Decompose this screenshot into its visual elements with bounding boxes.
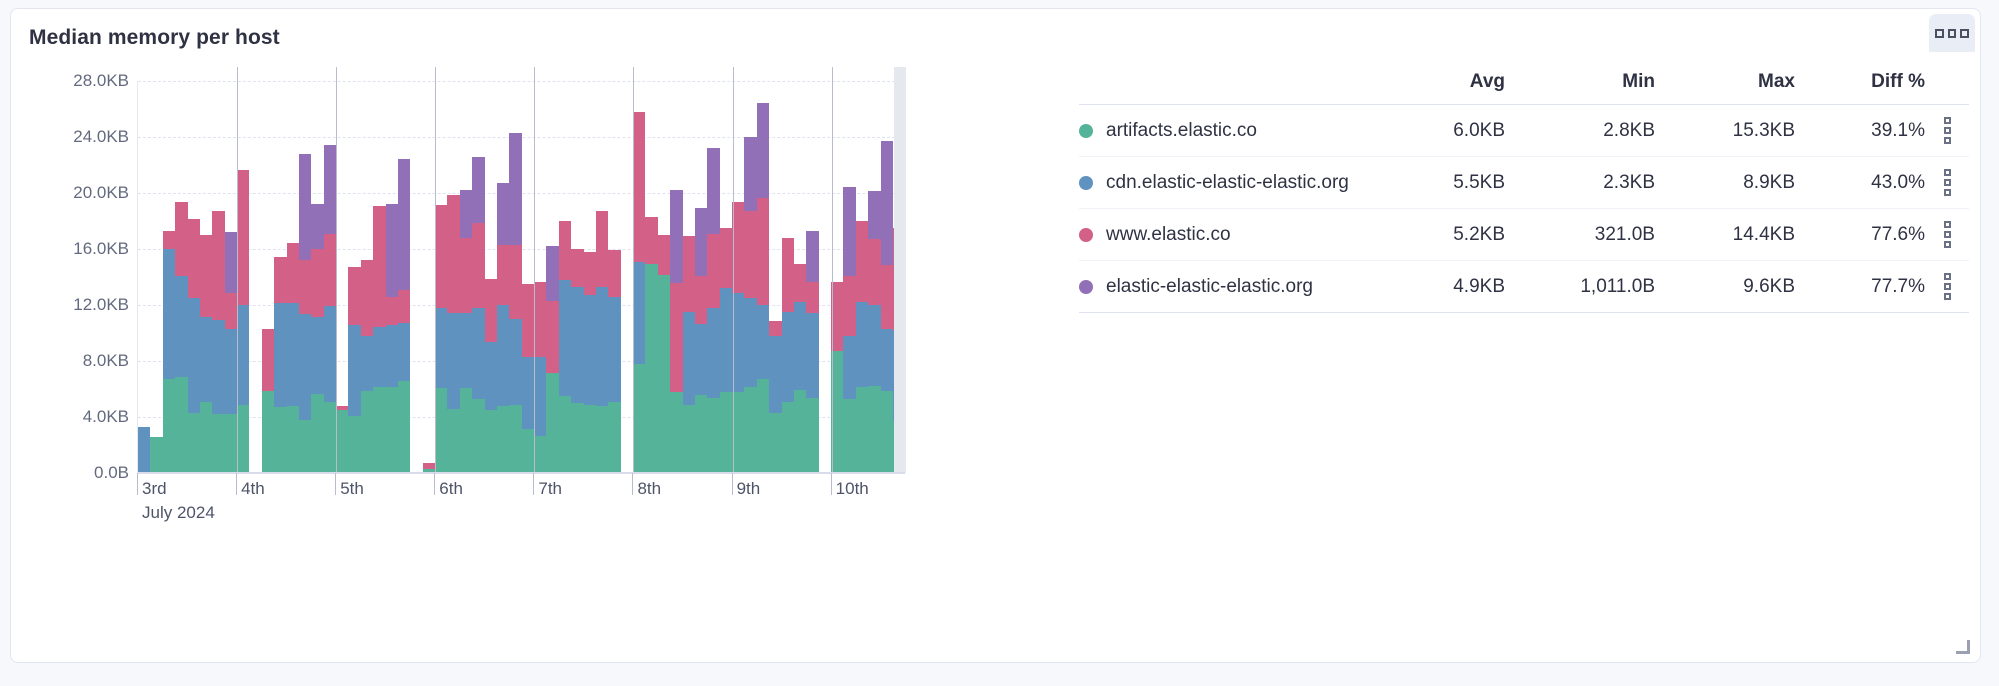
bar-segment bbox=[212, 414, 224, 473]
bar-segment bbox=[336, 410, 348, 473]
legend-row-grip-icon[interactable] bbox=[1925, 157, 1969, 209]
bar-segment bbox=[608, 402, 620, 473]
bar-segment bbox=[472, 399, 484, 473]
legend-diff-value: 39.1% bbox=[1795, 105, 1925, 157]
bar-segment bbox=[225, 329, 237, 414]
bar-segment bbox=[720, 288, 732, 392]
bar-segment bbox=[769, 336, 781, 413]
bar-segment bbox=[782, 312, 794, 402]
bar-segment bbox=[274, 257, 286, 303]
legend-row-grip-icon[interactable] bbox=[1925, 209, 1969, 261]
bar-column[interactable] bbox=[658, 81, 670, 473]
bar-column[interactable] bbox=[596, 81, 608, 473]
bar-segment bbox=[769, 413, 781, 473]
bar-segment bbox=[163, 379, 175, 473]
bar-column[interactable] bbox=[249, 81, 261, 473]
bar-segment bbox=[584, 405, 596, 473]
bar-column[interactable] bbox=[534, 81, 546, 473]
bar-segment bbox=[744, 387, 756, 473]
bar-segment bbox=[212, 320, 224, 414]
bar-segment bbox=[881, 265, 893, 329]
bar-segment bbox=[720, 228, 732, 288]
legend-avg-value: 5.2KB bbox=[1385, 209, 1505, 261]
bar-column[interactable] bbox=[212, 81, 224, 473]
bar-column[interactable] bbox=[868, 81, 880, 473]
y-axis-tick-label: 8.0KB bbox=[83, 351, 129, 371]
bar-column[interactable] bbox=[311, 81, 323, 473]
bar-column[interactable] bbox=[881, 81, 893, 473]
bar-segment bbox=[633, 112, 645, 262]
bar-segment bbox=[881, 329, 893, 391]
bar-segment bbox=[373, 206, 385, 326]
bar-segment bbox=[707, 398, 719, 473]
bar-segment bbox=[200, 235, 212, 317]
bar-segment bbox=[485, 279, 497, 342]
bar-segment bbox=[237, 305, 249, 405]
bar-segment bbox=[707, 234, 719, 308]
bar-column[interactable] bbox=[522, 81, 534, 473]
day-separator bbox=[237, 67, 238, 473]
table-row[interactable]: www.elastic.co5.2KB321.0B14.4KB77.6% bbox=[1079, 209, 1969, 261]
legend-header-grip bbox=[1925, 71, 1969, 105]
bar-segment bbox=[732, 202, 744, 292]
legend-header-max[interactable]: Max bbox=[1655, 71, 1795, 105]
bar-segment bbox=[522, 357, 534, 429]
bar-segment bbox=[596, 211, 608, 288]
y-axis-tick-label: 28.0KB bbox=[73, 71, 129, 91]
legend-min-value: 1,011.0B bbox=[1505, 261, 1655, 313]
x-axis-tick-label: 8th bbox=[632, 479, 661, 499]
legend-row-grip-icon[interactable] bbox=[1925, 105, 1969, 157]
bar-segment bbox=[472, 223, 484, 308]
bar-column[interactable] bbox=[744, 81, 756, 473]
bar-segment bbox=[720, 392, 732, 473]
bar-segment bbox=[695, 395, 707, 473]
x-axis-period-label: July 2024 bbox=[137, 503, 215, 523]
bar-segment bbox=[806, 231, 818, 282]
x-axis-tick-label: 10th bbox=[831, 479, 869, 499]
bar-segment bbox=[683, 236, 695, 311]
bar-column[interactable] bbox=[460, 81, 472, 473]
bar-segment bbox=[212, 211, 224, 320]
bar-segment bbox=[188, 413, 200, 473]
bar-segment bbox=[175, 202, 187, 276]
bar-segment bbox=[658, 235, 670, 275]
bar-column[interactable] bbox=[806, 81, 818, 473]
legend-min-value: 2.3KB bbox=[1505, 157, 1655, 209]
bar-column[interactable] bbox=[299, 81, 311, 473]
bar-segment bbox=[386, 387, 398, 473]
y-axis-tick-label: 0.0B bbox=[94, 463, 129, 483]
bar-segment bbox=[311, 249, 323, 317]
bar-column[interactable] bbox=[410, 81, 422, 473]
bar-segment bbox=[324, 306, 336, 402]
legend-row-grip-icon[interactable] bbox=[1925, 261, 1969, 313]
bar-segment bbox=[794, 302, 806, 390]
bar-column[interactable] bbox=[621, 81, 633, 473]
bar-segment bbox=[262, 329, 274, 391]
bar-segment bbox=[447, 409, 459, 473]
bar-segment bbox=[769, 321, 781, 336]
bar-segment bbox=[497, 183, 509, 245]
bar-segment bbox=[856, 387, 868, 473]
bar-column[interactable] bbox=[707, 81, 719, 473]
bar-segment bbox=[670, 190, 682, 283]
bar-segment bbox=[596, 287, 608, 406]
bar-column[interactable] bbox=[138, 81, 150, 473]
bar-segment bbox=[311, 317, 323, 394]
bar-segment bbox=[460, 190, 472, 238]
bar-segment bbox=[695, 276, 707, 324]
bar-segment bbox=[571, 403, 583, 473]
bar-segment bbox=[695, 208, 707, 276]
bar-segment bbox=[732, 293, 744, 393]
bar-segment bbox=[608, 250, 620, 296]
bar-segment bbox=[831, 351, 843, 473]
x-axis-tick-label: 3rd bbox=[137, 479, 167, 499]
bar-segment bbox=[670, 283, 682, 392]
bar-segment bbox=[806, 398, 818, 473]
bar-segment bbox=[843, 276, 855, 336]
bar-segment bbox=[299, 260, 311, 315]
bar-segment bbox=[274, 303, 286, 407]
menu-square-1-icon bbox=[1935, 29, 1944, 38]
bar-segment bbox=[509, 133, 521, 245]
bar-segment bbox=[175, 377, 187, 473]
bar-segment bbox=[485, 342, 497, 410]
bar-segment bbox=[175, 276, 187, 377]
bar-column[interactable] bbox=[497, 81, 509, 473]
series-label: www.elastic.co bbox=[1106, 224, 1231, 246]
bar-segment bbox=[188, 219, 200, 298]
bar-segment bbox=[794, 390, 806, 473]
legend-avg-value: 6.0KB bbox=[1385, 105, 1505, 157]
x-axis-tick-label: 6th bbox=[434, 479, 463, 499]
bar-column[interactable] bbox=[546, 81, 558, 473]
bar-segment bbox=[299, 314, 311, 419]
bar-segment bbox=[373, 327, 385, 387]
bar-segment bbox=[831, 282, 843, 352]
bar-column[interactable] bbox=[287, 81, 299, 473]
legend-max-value: 8.9KB bbox=[1655, 157, 1795, 209]
bar-segment bbox=[348, 267, 360, 326]
bar-column[interactable] bbox=[831, 81, 843, 473]
y-axis-tick-label: 16.0KB bbox=[73, 239, 129, 259]
bar-segment bbox=[608, 297, 620, 402]
bar-segment bbox=[287, 243, 299, 303]
bar-segment bbox=[584, 252, 596, 296]
table-row[interactable]: cdn.elastic-elastic-elastic.org5.5KB2.3K… bbox=[1079, 157, 1969, 209]
x-axis-tick-label: 5th bbox=[335, 479, 364, 499]
legend-series-name[interactable]: www.elastic.co bbox=[1079, 209, 1385, 261]
bar-segment bbox=[373, 387, 385, 473]
bar-segment bbox=[782, 402, 794, 473]
bar-column[interactable] bbox=[856, 81, 868, 473]
bar-column[interactable] bbox=[188, 81, 200, 473]
bar-segment bbox=[200, 402, 212, 473]
x-axis-tick-label: 7th bbox=[533, 479, 562, 499]
bar-segment bbox=[732, 392, 744, 473]
legend-avg-value: 4.9KB bbox=[1385, 261, 1505, 313]
bar-segment bbox=[843, 336, 855, 399]
bar-segment bbox=[324, 402, 336, 473]
bar-column[interactable] bbox=[720, 81, 732, 473]
legend-series-name[interactable]: elastic-elastic-elastic.org bbox=[1079, 261, 1385, 313]
bar-segment bbox=[497, 406, 509, 473]
bar-segment bbox=[881, 391, 893, 473]
bar-segment bbox=[806, 282, 818, 313]
series-label: cdn.elastic-elastic-elastic.org bbox=[1106, 172, 1349, 194]
bar-segment bbox=[546, 301, 558, 373]
bar-segment bbox=[485, 410, 497, 473]
bar-segment bbox=[881, 141, 893, 265]
legend-header-avg[interactable]: Avg bbox=[1385, 71, 1505, 105]
legend-min-value: 321.0B bbox=[1505, 209, 1655, 261]
bar-column[interactable] bbox=[386, 81, 398, 473]
bar-column[interactable] bbox=[819, 81, 831, 473]
bar-segment bbox=[534, 436, 546, 473]
bar-column[interactable] bbox=[633, 81, 645, 473]
bar-segment bbox=[472, 157, 484, 223]
day-separator bbox=[534, 67, 535, 473]
bar-segment bbox=[225, 414, 237, 473]
y-axis-tick-label: 20.0KB bbox=[73, 183, 129, 203]
bar-segment bbox=[435, 388, 447, 473]
bar-segment bbox=[509, 245, 521, 319]
bar-segment bbox=[138, 427, 150, 473]
bar-segment bbox=[311, 204, 323, 249]
bar-segment bbox=[757, 198, 769, 305]
bar-segment bbox=[757, 379, 769, 473]
bar-segment bbox=[856, 302, 868, 387]
bar-segment bbox=[262, 391, 274, 473]
bar-segment bbox=[757, 305, 769, 379]
menu-square-2-icon bbox=[1948, 29, 1957, 38]
bar-segment bbox=[571, 249, 583, 287]
bar-column[interactable] bbox=[336, 81, 348, 473]
bar-segment bbox=[683, 312, 695, 405]
day-separator bbox=[336, 67, 337, 473]
bar-segment bbox=[645, 217, 657, 263]
page-title: Median memory per host bbox=[29, 26, 280, 50]
series-color-dot-icon bbox=[1079, 280, 1093, 294]
bar-column[interactable] bbox=[225, 81, 237, 473]
bar-segment bbox=[782, 238, 794, 312]
day-separator bbox=[633, 67, 634, 473]
bar-segment bbox=[398, 381, 410, 473]
bar-segment bbox=[497, 245, 509, 305]
legend-series-name[interactable]: cdn.elastic-elastic-elastic.org bbox=[1079, 157, 1385, 209]
bar-segment bbox=[435, 308, 447, 389]
legend-header-min[interactable]: Min bbox=[1505, 71, 1655, 105]
bar-column[interactable] bbox=[559, 81, 571, 473]
legend-max-value: 9.6KB bbox=[1655, 261, 1795, 313]
bar-segment bbox=[287, 406, 299, 473]
bar-segment bbox=[361, 336, 373, 391]
legend-max-value: 14.4KB bbox=[1655, 209, 1795, 261]
bar-segment bbox=[237, 405, 249, 473]
bar-column[interactable] bbox=[175, 81, 187, 473]
legend-header-diff[interactable]: Diff % bbox=[1795, 71, 1925, 105]
bar-segment bbox=[348, 416, 360, 473]
legend-min-value: 2.8KB bbox=[1505, 105, 1655, 157]
bar-segment bbox=[695, 324, 707, 395]
bar-column[interactable] bbox=[732, 81, 744, 473]
bar-segment bbox=[348, 325, 360, 415]
resize-handle-icon[interactable] bbox=[1956, 640, 1970, 654]
bar-column[interactable] bbox=[757, 81, 769, 473]
panel-options-icon[interactable] bbox=[1929, 14, 1975, 52]
bar-segment bbox=[447, 313, 459, 409]
bar-segment bbox=[584, 295, 596, 404]
day-separator bbox=[832, 67, 833, 473]
bar-segment bbox=[546, 373, 558, 473]
bar-column[interactable] bbox=[782, 81, 794, 473]
bar-segment bbox=[460, 388, 472, 473]
bar-segment bbox=[596, 406, 608, 473]
series-color-dot-icon bbox=[1079, 124, 1093, 138]
bar-segment bbox=[757, 103, 769, 199]
bar-column[interactable] bbox=[237, 81, 249, 473]
y-axis-labels: 28.0KB24.0KB20.0KB16.0KB12.0KB8.0KB4.0KB… bbox=[25, 67, 133, 527]
bar-segment bbox=[509, 405, 521, 473]
series-color-dot-icon bbox=[1079, 228, 1093, 242]
bar-segment bbox=[559, 221, 571, 280]
bar-column[interactable] bbox=[571, 81, 583, 473]
bar-column[interactable] bbox=[398, 81, 410, 473]
bar-column[interactable] bbox=[348, 81, 360, 473]
bar-column[interactable] bbox=[509, 81, 521, 473]
bar-column[interactable] bbox=[485, 81, 497, 473]
bar-segment bbox=[522, 429, 534, 473]
bar-segment bbox=[559, 396, 571, 473]
bar-column[interactable] bbox=[608, 81, 620, 473]
legend-header-row: Avg Min Max Diff % bbox=[1079, 71, 1969, 105]
legend-max-value: 15.3KB bbox=[1655, 105, 1795, 157]
partial-bucket-overlay bbox=[894, 67, 906, 473]
bar-segment bbox=[633, 262, 645, 363]
bar-column[interactable] bbox=[324, 81, 336, 473]
bar-segment bbox=[299, 154, 311, 259]
bar-segment bbox=[559, 280, 571, 396]
x-axis-tick-label: 4th bbox=[236, 479, 265, 499]
bar-segment bbox=[237, 170, 249, 305]
bar-segment bbox=[398, 323, 410, 382]
bar-column[interactable] bbox=[262, 81, 274, 473]
bar-segment bbox=[324, 234, 336, 306]
bar-segment bbox=[163, 231, 175, 249]
bar-segment bbox=[843, 399, 855, 473]
bar-column[interactable] bbox=[274, 81, 286, 473]
plot-area[interactable] bbox=[137, 81, 905, 473]
legend-series-name[interactable]: artifacts.elastic.co bbox=[1079, 105, 1385, 157]
y-axis-tick-label: 12.0KB bbox=[73, 295, 129, 315]
bar-segment bbox=[868, 386, 880, 474]
series-color-dot-icon bbox=[1079, 176, 1093, 190]
bar-column[interactable] bbox=[695, 81, 707, 473]
bar-segment bbox=[546, 246, 558, 301]
bar-column[interactable] bbox=[423, 81, 435, 473]
bar-column[interactable] bbox=[435, 81, 447, 473]
bar-segment bbox=[707, 308, 719, 398]
bar-column[interactable] bbox=[200, 81, 212, 473]
resize-horizontal-bar bbox=[1956, 651, 1970, 654]
bar-column[interactable] bbox=[683, 81, 695, 473]
bar-segment bbox=[324, 145, 336, 234]
bar-segment bbox=[398, 159, 410, 290]
y-axis-tick-label: 24.0KB bbox=[73, 127, 129, 147]
bar-segment bbox=[460, 313, 472, 388]
bar-segment bbox=[188, 298, 200, 413]
bar-segment bbox=[225, 293, 237, 330]
panel-header: Median memory per host bbox=[11, 9, 1980, 67]
legend-diff-value: 77.6% bbox=[1795, 209, 1925, 261]
bar-segment bbox=[361, 391, 373, 473]
bar-segment bbox=[509, 319, 521, 405]
bar-column[interactable] bbox=[843, 81, 855, 473]
bar-segment bbox=[150, 437, 162, 473]
bar-column[interactable] bbox=[447, 81, 459, 473]
series-label: artifacts.elastic.co bbox=[1106, 120, 1257, 142]
bar-segment bbox=[200, 317, 212, 402]
bar-segment bbox=[806, 313, 818, 398]
bar-segment bbox=[658, 275, 670, 473]
menu-square-3-icon bbox=[1960, 29, 1969, 38]
series-label: elastic-elastic-elastic.org bbox=[1106, 276, 1313, 298]
bar-column[interactable] bbox=[794, 81, 806, 473]
bar-column[interactable] bbox=[373, 81, 385, 473]
bar-segment bbox=[856, 221, 868, 302]
bar-column[interactable] bbox=[163, 81, 175, 473]
bar-column[interactable] bbox=[472, 81, 484, 473]
bar-column[interactable] bbox=[670, 81, 682, 473]
bar-column[interactable] bbox=[584, 81, 596, 473]
bar-segment bbox=[163, 249, 175, 379]
bar-segment bbox=[534, 357, 546, 436]
table-row[interactable]: elastic-elastic-elastic.org4.9KB1,011.0B… bbox=[1079, 261, 1969, 313]
bar-column[interactable] bbox=[645, 81, 657, 473]
bar-column[interactable] bbox=[361, 81, 373, 473]
bar-segment bbox=[534, 282, 546, 357]
bar-segment bbox=[683, 405, 695, 473]
bar-segment bbox=[571, 287, 583, 403]
bar-segment bbox=[744, 137, 756, 211]
legend-diff-value: 77.7% bbox=[1795, 261, 1925, 313]
bar-segment bbox=[472, 308, 484, 400]
bar-segment bbox=[868, 239, 880, 305]
bar-segment bbox=[361, 260, 373, 337]
bar-segment bbox=[633, 364, 645, 473]
bar-column[interactable] bbox=[769, 81, 781, 473]
day-separator bbox=[733, 67, 734, 473]
bar-column[interactable] bbox=[150, 81, 162, 473]
bar-segment bbox=[274, 407, 286, 473]
bar-segment bbox=[497, 305, 509, 406]
x-axis: 3rdJuly 20244th5th6th7th8th9th10th bbox=[137, 473, 905, 474]
bar-segment bbox=[460, 238, 472, 313]
bar-segment bbox=[311, 394, 323, 473]
table-row[interactable]: artifacts.elastic.co6.0KB2.8KB15.3KB39.1… bbox=[1079, 105, 1969, 157]
legend-diff-value: 43.0% bbox=[1795, 157, 1925, 209]
bar-segment bbox=[287, 303, 299, 406]
bar-segment bbox=[522, 284, 534, 356]
legend-header-name[interactable] bbox=[1079, 71, 1385, 105]
bar-segment bbox=[744, 211, 756, 299]
bar-segment bbox=[225, 232, 237, 292]
bar-segment bbox=[386, 297, 398, 326]
legend-avg-value: 5.5KB bbox=[1385, 157, 1505, 209]
bar-segment bbox=[868, 305, 880, 386]
